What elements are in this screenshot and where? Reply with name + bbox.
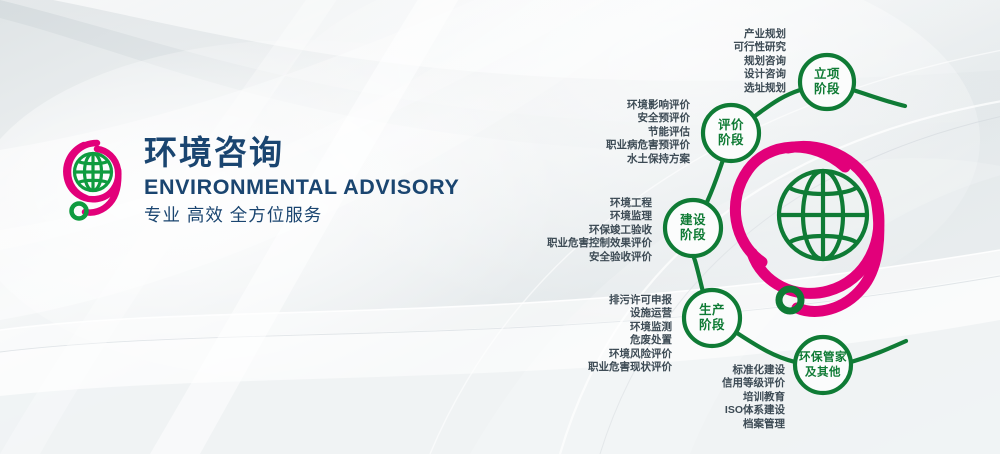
service-item: 排污许可申报 <box>588 294 672 307</box>
connector-stewardship-right <box>851 341 906 362</box>
process-diagram: 立项 阶段 评价 阶段 建设 阶段 生产 阶段 环保管家 及其他 产业规划 可行… <box>0 0 1000 454</box>
service-item: 可行性研究 <box>734 41 787 54</box>
service-item: 节能评估 <box>606 126 690 139</box>
service-list-production: 排污许可申报 设施运营 环境监测 危废处置 环境风险评价 职业危害现状评价 <box>588 294 672 374</box>
connector-construction-evaluation <box>707 160 723 202</box>
node-circle-construction <box>665 200 721 256</box>
node-circle-initiation <box>800 55 854 109</box>
service-item: 选址规划 <box>734 82 787 95</box>
service-item: 环境影响评价 <box>606 99 690 112</box>
node-circle-stewardship <box>795 337 851 393</box>
service-item: 设施运营 <box>588 307 672 320</box>
service-list-construction: 环境工程 环境监理 环保竣工验收 职业危害控制效果评价 安全验收评价 <box>547 197 652 264</box>
service-item: 职业危害控制效果评价 <box>547 237 652 250</box>
service-item: 产业规划 <box>734 28 787 41</box>
service-item: 环境监理 <box>547 210 652 223</box>
service-item: 职业病危害预评价 <box>606 139 690 152</box>
connector-production-stewardship <box>737 333 795 362</box>
service-item: 危废处置 <box>588 334 672 347</box>
node-circle-evaluation <box>703 105 759 161</box>
node-circle-production <box>684 290 740 346</box>
service-item: 环保竣工验收 <box>547 224 652 237</box>
service-item: ISO体系建设 <box>722 404 785 417</box>
globe-swirl-icon <box>735 146 879 311</box>
service-item: 环境工程 <box>547 197 652 210</box>
connector-initiation-right <box>853 90 905 106</box>
service-item: 设计咨询 <box>734 68 787 81</box>
service-item: 安全验收评价 <box>547 251 652 264</box>
service-item: 安全预评价 <box>606 112 690 125</box>
banner-root: 环境咨询 ENVIRONMENTAL ADVISORY 专业 高效 全方位服务 <box>0 0 1000 454</box>
connector-production-construction <box>693 256 703 292</box>
service-item: 环境监测 <box>588 321 672 334</box>
service-item: 环境风险评价 <box>588 348 672 361</box>
diagram-svg <box>0 0 1000 454</box>
service-item: 培训教育 <box>722 391 785 404</box>
service-item: 规划咨询 <box>734 55 787 68</box>
service-item: 信用等级评价 <box>722 377 785 390</box>
service-list-evaluation: 环境影响评价 安全预评价 节能评估 职业病危害预评价 水土保持方案 <box>606 99 690 166</box>
service-item: 水土保持方案 <box>606 153 690 166</box>
accent-ring-icon <box>779 289 801 311</box>
central-globe-icon <box>779 171 867 259</box>
service-item: 档案管理 <box>722 418 785 431</box>
service-list-stewardship: 标准化建设 信用等级评价 培训教育 ISO体系建设 档案管理 <box>722 364 785 431</box>
service-item: 职业危害现状评价 <box>588 361 672 374</box>
service-list-initiation: 产业规划 可行性研究 规划咨询 设计咨询 选址规划 <box>734 28 787 95</box>
service-item: 标准化建设 <box>722 364 785 377</box>
node-circles <box>665 55 854 393</box>
